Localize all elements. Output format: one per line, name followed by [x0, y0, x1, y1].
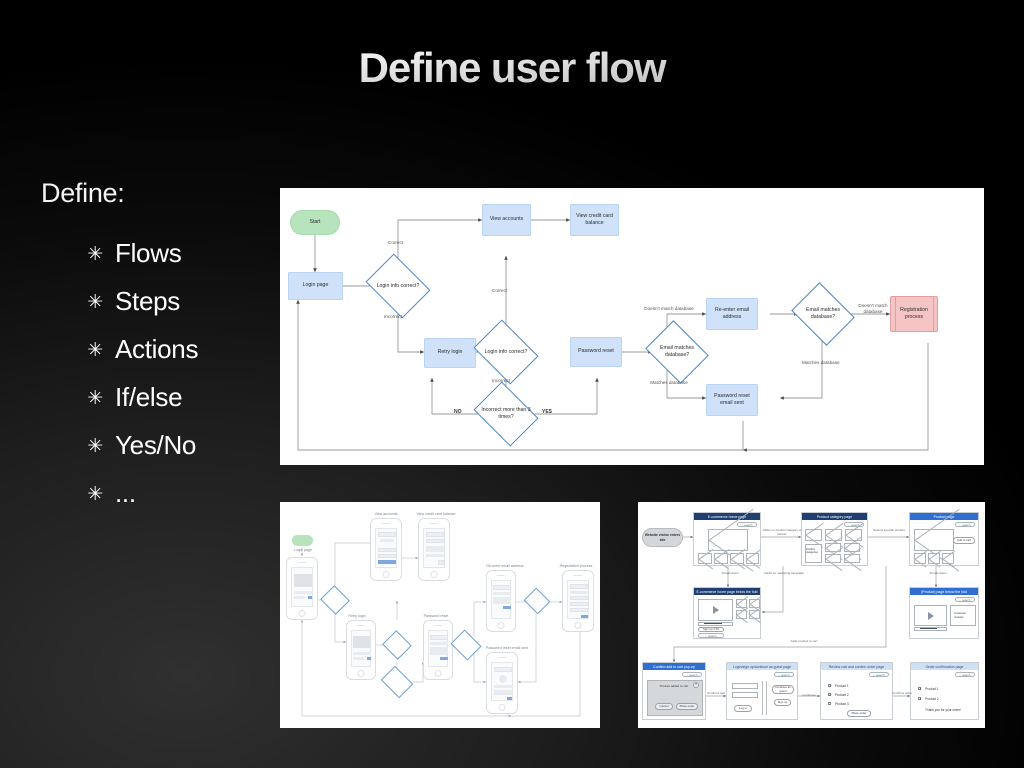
hero-image-placeholder [708, 529, 748, 551]
asterisk-bullet-icon: ✳ [85, 485, 105, 504]
product-placeholder [825, 554, 841, 563]
ecom-card-review-cart: Review cart and confirm order page ⌕sear… [820, 662, 893, 720]
mobile-label-view-credit-card-balance: View credit card balance [408, 512, 464, 516]
ecommerce-wireframe-image: Website visitor enters site E-commerce h… [638, 502, 985, 728]
list-item-label: Steps [115, 286, 180, 317]
add-to-cart-button[interactable]: Add to cart [953, 537, 975, 544]
video-player[interactable] [914, 605, 947, 626]
signup-cta-button[interactable]: Sign up CTA [698, 627, 724, 632]
flow-node-login-info-correct-2: Login info correct? [480, 332, 532, 372]
card-title: E-commerce home page [694, 513, 760, 520]
edge-label-doesnt-match-database-1: Doesn't match database [643, 306, 695, 312]
flow-node-view-credit-card-balance: View credit card balance [570, 204, 619, 236]
mobile-flow: Login page View accounts View credit car… [280, 502, 600, 728]
ecom-card-product: Product page ⌕search Add to cart [909, 512, 979, 566]
ecom-edge-label-7: Confirms cart [706, 692, 726, 696]
ecom-edge-label-4: Clicks on marketing campaign [758, 572, 810, 576]
phone-mockup-view-accounts [370, 518, 402, 581]
card-title: Order confirmation page [911, 663, 978, 670]
mobile-label-view-accounts: View accounts [362, 512, 410, 516]
phone-mockup-registration [562, 570, 594, 632]
flow-node-password-reset: Password reset [570, 337, 622, 367]
product-placeholder [825, 543, 841, 552]
mobile-label-registration: Registration process [548, 564, 600, 568]
mobile-label-reenter-email: Re-enter email address [476, 564, 534, 568]
asterisk-bullet-icon: ✳ [85, 341, 105, 360]
mobile-wireframe-image: Login page View accounts View credit car… [280, 502, 600, 728]
product-placeholder [845, 529, 862, 541]
card-title: Review cart and confirm order page [821, 663, 892, 670]
product-checkbox[interactable] [828, 702, 831, 705]
search-icon[interactable]: ⌕search [869, 672, 889, 677]
product-label: Product 2 [925, 697, 939, 701]
continue-as-guest-button[interactable]: Continue as guest [772, 685, 794, 694]
ecom-edge-label-6: Adds product to cart [776, 640, 832, 644]
edge-label-doesnt-match-database-2: Doesn't match database [851, 303, 895, 315]
search-icon[interactable]: ⌕search [955, 672, 975, 677]
search-icon[interactable]: ⌕search [774, 672, 794, 677]
flow-node-start: Start [290, 210, 340, 235]
product-checkbox [918, 697, 921, 700]
thumb-placeholder [928, 553, 940, 564]
thumb-placeholder [730, 553, 744, 564]
ecommerce-flow: Website visitor enters site E-commerce h… [638, 502, 985, 728]
card-title: Product category page [802, 513, 867, 520]
flowchart: Start Login page Login info correct? Vie… [280, 188, 984, 465]
edge-label-correct-2: Correct [492, 288, 507, 294]
thumb-placeholder [942, 553, 954, 564]
ecom-edge-label-8: Continues [798, 694, 820, 698]
thumb-placeholder [736, 610, 747, 619]
search-icon[interactable]: ⌕search [955, 522, 975, 527]
search-icon[interactable]: ⌕search [955, 597, 975, 602]
edge-label-correct-1: Correct [388, 240, 403, 246]
page-title: Define user flow [0, 44, 1024, 92]
ecom-edge-label-2: Selects specific product [870, 529, 908, 533]
ecom-card-order-confirmation: Order confirmation page ⌕search Product … [910, 662, 979, 720]
edge-label-yes: YES [542, 409, 552, 416]
list-item-label: Actions [115, 334, 198, 365]
ecom-edge-label-9: Confirms order [892, 692, 912, 696]
ecom-entry-node: Website visitor enters site [642, 528, 683, 547]
flow-node-view-accounts: View accounts [482, 204, 531, 236]
mobile-start-node [292, 535, 313, 546]
search-icon[interactable]: ⌕search [682, 672, 702, 677]
mobile-label-reset-email-sent: Password reset email sent [476, 646, 538, 650]
mobile-label-retry-login: Retry login [338, 614, 376, 618]
login-flowchart-image: Start Login page Login info correct? Vie… [280, 188, 984, 465]
list-item: ✳ Actions [85, 325, 273, 373]
email-field[interactable] [732, 683, 758, 689]
list-item-label: Flows [115, 238, 181, 269]
phone-mockup-retry-login [346, 620, 376, 680]
list-item: ✳ Yes/No [85, 421, 273, 469]
list-item: ✳ ... [85, 469, 273, 517]
product-placeholder [805, 529, 822, 541]
define-heading: Define: [41, 178, 273, 209]
card-title: Confirm add to cart pop-up [643, 663, 705, 670]
place-order-button[interactable]: Place order [847, 710, 871, 717]
phone-mockup-reset-email-sent [486, 652, 518, 714]
edge-label-incorrect-1: Incorrect [384, 314, 402, 320]
flow-node-incorrect-more-than-3-times: Incorrect more than 3 times? [480, 394, 532, 434]
thumb-placeholder [749, 610, 760, 619]
edge-label-incorrect-2: Incorrect [492, 378, 510, 384]
flow-node-email-matches-database-1: Email matches database? [652, 332, 702, 372]
thumb-placeholder [746, 553, 759, 564]
divider [762, 681, 763, 715]
list-item: ✳ Flows [85, 229, 273, 277]
flowchart-edges [280, 188, 984, 465]
ecom-edge-label-3: Scrolls down [714, 572, 746, 576]
card-title: E-commerce home page below the fold [694, 588, 760, 595]
modal-text: Product added to cart [657, 684, 691, 688]
flow-node-reenter-email-address: Re-enter email address [706, 298, 758, 330]
ecom-card-category: Product category page ⌕search Product ca… [801, 512, 868, 566]
edge-label-matches-database-1: Matches database [643, 380, 695, 386]
product-placeholder [844, 543, 860, 552]
sign-up-button[interactable]: Sign up [774, 699, 791, 706]
slide-canvas: Define user flow Define: ✳ Flows ✳ Steps… [0, 0, 1024, 768]
ecom-card-product-below-fold: (Product) page below the fold ⌕search Cu… [909, 587, 979, 639]
flow-node-password-reset-email-sent: Password reset email sent [706, 384, 758, 416]
video-scrubber[interactable] [698, 622, 733, 626]
search-icon[interactable]: ⌕search [698, 633, 724, 638]
search-icon[interactable]: ⌕search [737, 522, 757, 527]
mobile-label-login-page: Login page [284, 548, 322, 552]
product-checkbox[interactable] [828, 684, 831, 687]
thank-you-message: Thank you for your order! [925, 708, 961, 712]
asterisk-bullet-icon: ✳ [85, 389, 105, 408]
edge-label-no: NO [454, 409, 462, 416]
list-item-label: ... [115, 478, 136, 509]
log-in-button[interactable]: Log in [734, 705, 752, 712]
list-item: ✳ If/else [85, 373, 273, 421]
card-title: (Product) page below the fold [910, 588, 978, 595]
ecom-edge-label-1: Clicks on product category or banner [762, 529, 802, 537]
password-field[interactable] [732, 692, 758, 698]
thumb-placeholder [698, 553, 712, 564]
mobile-label-password-reset: Password reset [414, 614, 458, 618]
product-placeholder [844, 554, 860, 563]
edge-label-matches-database-2: Matches database [802, 360, 840, 366]
product-hero-placeholder [914, 529, 954, 551]
product-placeholder [825, 529, 842, 541]
list-item: ✳ Steps [85, 277, 273, 325]
thumb-placeholder [914, 553, 926, 564]
asterisk-bullet-icon: ✳ [85, 437, 105, 456]
place-order-button[interactable]: Place order [676, 703, 698, 710]
thumb-placeholder [714, 553, 728, 564]
flow-node-login-info-correct-1: Login info correct? [372, 266, 424, 306]
product-label: Product 2 [835, 693, 849, 697]
video-scrubber[interactable] [914, 627, 947, 631]
video-player[interactable] [698, 599, 733, 621]
flow-node-login-page: Login page [288, 272, 343, 300]
ecom-card-confirm-cart-popup: Confirm add to cart pop-up ⌕search Produ… [642, 662, 706, 720]
phone-mockup-login [286, 557, 318, 620]
cancel-button[interactable]: Cancel [655, 703, 673, 710]
mobile-decision-1 [324, 590, 346, 610]
phone-mockup-password-reset [423, 620, 453, 680]
asterisk-bullet-icon: ✳ [85, 293, 105, 312]
thumb-placeholder [749, 599, 760, 608]
product-label: Product 1 [835, 684, 849, 688]
card-title: Login/sign up/continue as guest page [727, 663, 797, 670]
phone-mockup-reenter-email [486, 570, 516, 632]
define-list: Define: ✳ Flows ✳ Steps ✳ Actions ✳ If/e… [41, 178, 273, 517]
ecom-card-home-below-fold: E-commerce home page below the fold Sign… [693, 587, 761, 639]
asterisk-bullet-icon: ✳ [85, 245, 105, 264]
thumb-placeholder [736, 599, 747, 608]
product-checkbox [918, 687, 921, 690]
flow-node-registration-process: Registration process [890, 296, 938, 332]
close-icon[interactable]: ✕ [693, 682, 699, 688]
mobile-decision-2 [386, 635, 408, 655]
flow-node-email-matches-database-2: Email matches database? [798, 294, 848, 334]
product-label: Product 1 [925, 687, 939, 691]
flow-node-retry-login: Retry login [424, 338, 476, 368]
phone-mockup-credit-balance [418, 518, 450, 581]
list-item-label: If/else [115, 382, 182, 413]
mobile-decision-4 [454, 635, 478, 655]
ecom-card-home: E-commerce home page ⌕search [693, 512, 761, 566]
mobile-decision-5 [527, 592, 547, 610]
mobile-decision-3 [384, 672, 410, 692]
category-filter-label: Product categories [806, 548, 821, 554]
list-item-label: Yes/No [115, 430, 196, 461]
ecom-edge-label-5: Scrolls down [922, 572, 954, 576]
ecom-card-login-guest: Login/sign up/continue as guest page ⌕se… [726, 662, 798, 720]
product-label: Product 3 [835, 702, 849, 706]
divider [766, 681, 767, 715]
customer-reviews-label: Customer reviews [954, 611, 974, 619]
product-checkbox[interactable] [828, 693, 831, 696]
